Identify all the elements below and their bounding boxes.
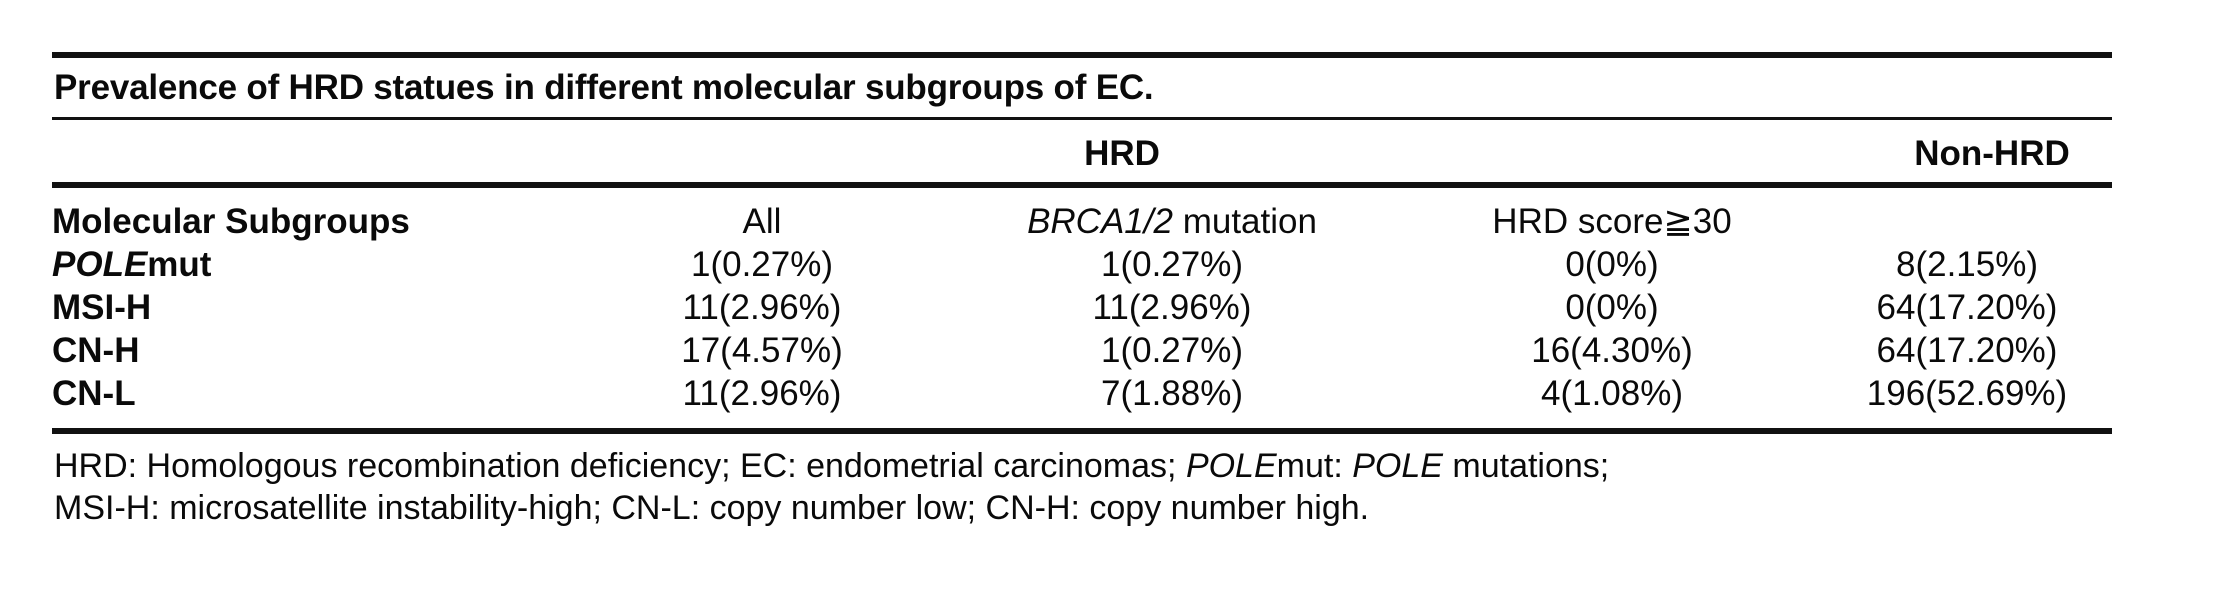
footnote-line-1: HRD: Homologous recombination deficiency… [54,445,2112,487]
row-label-cn-l: CN-L [52,372,582,415]
table-row: CN-L 11(2.96%) 7(1.88%) 4(1.08%) 196(52.… [52,372,2112,415]
group-header-row: HRD Non-HRD [52,120,2112,182]
cell-non-hrd: 64(17.20%) [1822,286,2112,329]
column-header-all: All [582,200,942,243]
footnote-text-c: mutations; [1443,447,1609,485]
column-header-hrd-score: HRD score≧30 [1402,200,1822,243]
body-top-spacer [52,188,2112,200]
table-footnote: HRD: Homologous recombination deficiency… [52,434,2112,529]
column-header-row: Molecular Subgroups All BRCA1/2 mutation… [52,200,2112,243]
pole-gene-name: POLE [52,245,147,284]
body-bottom-spacer [52,415,2112,428]
pole-suffix: mut [147,245,211,284]
column-header-non-hrd-blank [1822,200,2112,243]
row-label-cn-h: CN-H [52,329,582,372]
cell-hrd-score: 0(0%) [1402,286,1822,329]
cell-brca: 7(1.88%) [942,372,1402,415]
table-row: POLEmut 1(0.27%) 1(0.27%) 0(0%) 8(2.15%) [52,243,2112,286]
cell-non-hrd: 64(17.20%) [1822,329,2112,372]
footnote-line-2: MSI-H: microsatellite instability-high; … [54,487,2112,529]
cell-all: 17(4.57%) [582,329,942,372]
table-caption: Prevalence of HRD statues in different m… [52,58,2112,117]
footnote-text-b: mut: [1277,447,1353,485]
group-header-non-hrd: Non-HRD [1862,134,2122,174]
cell-non-hrd: 196(52.69%) [1822,372,2112,415]
cell-all: 11(2.96%) [582,286,942,329]
data-table: Molecular Subgroups All BRCA1/2 mutation… [52,200,2112,415]
row-label-polemut: POLEmut [52,243,582,286]
column-header-subgroups: Molecular Subgroups [52,200,582,243]
table-container: Prevalence of HRD statues in different m… [52,52,2112,529]
cell-hrd-score: 0(0%) [1402,243,1822,286]
cell-brca: 11(2.96%) [942,286,1402,329]
cell-brca: 1(0.27%) [942,329,1402,372]
footnote-pole-1: POLE [1186,447,1277,485]
row-label-msi-h: MSI-H [52,286,582,329]
brca-mutation-suffix: mutation [1173,202,1317,241]
group-header-hrd: HRD [1042,134,1202,174]
cell-brca: 1(0.27%) [942,243,1402,286]
cell-all: 1(0.27%) [582,243,942,286]
cell-all: 11(2.96%) [582,372,942,415]
footnote-text-a: HRD: Homologous recombination deficiency… [54,447,1186,485]
brca-gene-name: BRCA1/2 [1027,202,1173,241]
table-row: CN-H 17(4.57%) 1(0.27%) 16(4.30%) 64(17.… [52,329,2112,372]
table-row: MSI-H 11(2.96%) 11(2.96%) 0(0%) 64(17.20… [52,286,2112,329]
column-header-brca-mutation: BRCA1/2 mutation [942,200,1402,243]
footnote-pole-2: POLE [1352,447,1443,485]
cell-hrd-score: 16(4.30%) [1402,329,1822,372]
cell-non-hrd: 8(2.15%) [1822,243,2112,286]
cell-hrd-score: 4(1.08%) [1402,372,1822,415]
